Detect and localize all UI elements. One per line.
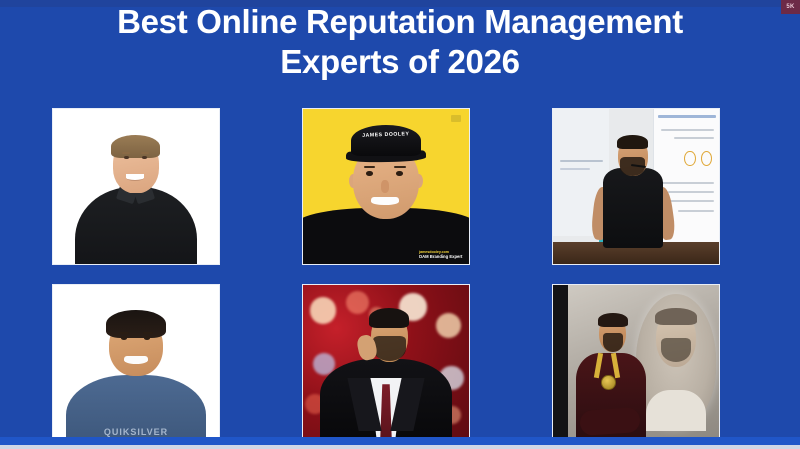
bottom-accent-band: [0, 437, 800, 445]
expert-photo-2[interactable]: JAMES DOOLEY jamesdooley.com DAM Brandin…: [302, 108, 470, 265]
photo-overlay-caption-2: jamesdooley.com DAM Branding Expert: [419, 250, 462, 260]
smiley-icon: [684, 151, 696, 167]
expert-photo-4[interactable]: QUIKSILVER: [52, 284, 220, 441]
expert-portrait-image-2: JAMES DOOLEY jamesdooley.com DAM Brandin…: [303, 109, 469, 264]
watermark-icon: [451, 115, 461, 122]
expert-portrait-image-5: [303, 285, 469, 440]
title-line-2: Experts of 2026: [0, 42, 800, 82]
view-count-badge: 5K: [781, 0, 800, 14]
expert-photo-3[interactable]: [552, 108, 720, 265]
expert-photo-5[interactable]: [302, 284, 470, 441]
expert-photo-6[interactable]: [552, 284, 720, 441]
presentation-slide: 5K Best Online Reputation Management Exp…: [0, 0, 800, 449]
expert-portrait-image-1: [53, 109, 219, 264]
shirt-brand-label: QUIKSILVER: [53, 427, 219, 437]
expert-portrait-image-6: [553, 285, 719, 440]
page-title: Best Online Reputation Management Expert…: [0, 2, 800, 83]
expert-photo-grid: JAMES DOOLEY jamesdooley.com DAM Brandin…: [52, 108, 720, 441]
bottom-edge-line: [0, 445, 800, 449]
expert-photo-1[interactable]: [52, 108, 220, 265]
expert-portrait-image-3: [553, 109, 719, 264]
title-line-1: Best Online Reputation Management: [0, 2, 800, 42]
expert-portrait-image-4: QUIKSILVER: [53, 285, 219, 440]
overlay-role-label: DAM Branding Expert: [419, 254, 462, 259]
